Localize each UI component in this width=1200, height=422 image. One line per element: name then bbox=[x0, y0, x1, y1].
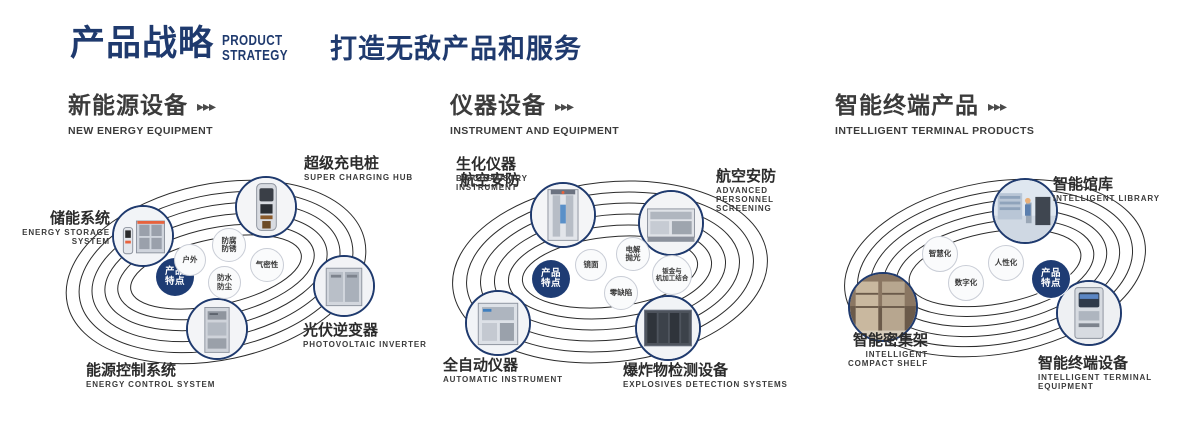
node-label-cn: 智能馆库 bbox=[1053, 176, 1160, 193]
page-subtitle: 打造无敌产品和服务 bbox=[330, 36, 582, 63]
energy-storage-cabinet-image bbox=[114, 207, 172, 265]
product-strategy-infographic: 产品战略 PRODUCT STRATEGY 打造无敌产品和服务 新能源设备▸▸▸… bbox=[0, 0, 1200, 422]
diagram-instrument: 产品 特点 镜面 电解抛光 钣金与机加工结合 零缺陷 航空安防 生化仪器 BIO… bbox=[420, 150, 820, 410]
feature-bubble-humanized[interactable]: 人性化 bbox=[988, 245, 1024, 281]
node-photo-intelligent-library[interactable] bbox=[992, 178, 1058, 244]
node-label-en: INTELLIGENT COMPACT SHELF bbox=[828, 351, 928, 369]
section-heading-cn: 新能源设备 bbox=[68, 95, 188, 118]
feature-bubble-airtightness[interactable]: 气密性 bbox=[250, 248, 284, 282]
node-photo-explosives-detection-systems[interactable] bbox=[635, 295, 701, 361]
feature-bubble-label: 气密性 bbox=[256, 261, 279, 269]
section-heading-cn: 智能终端产品 bbox=[835, 95, 979, 118]
page-title-english-line2: STRATEGY bbox=[222, 48, 288, 63]
node-label-explosives-detection-systems: 爆炸物检测设备 EXPLOSIVES DETECTION SYSTEMS bbox=[623, 362, 788, 390]
inverter-cabinet-image bbox=[315, 257, 373, 315]
node-photo-energy-storage-system[interactable] bbox=[112, 205, 174, 267]
feature-bubble-mirror-finish[interactable]: 镜面 bbox=[575, 249, 607, 281]
node-photo-energy-control-system[interactable] bbox=[186, 298, 248, 360]
hub-label-line2: 特点 bbox=[1041, 279, 1061, 289]
section-heading-intelligent-terminal: 智能终端产品▸▸▸ INTELLIGENT TERMINAL PRODUCTS bbox=[835, 95, 1034, 137]
feature-bubble-anticorrosion[interactable]: 防腐防锈 bbox=[212, 228, 246, 262]
node-label-cn: 储能系统 bbox=[0, 210, 110, 227]
node-label-cn: 能源控制系统 bbox=[86, 362, 215, 379]
feature-bubble-label: 数字化 bbox=[955, 279, 978, 287]
node-label-cn: 全自动仪器 bbox=[443, 357, 563, 374]
node-label-en: ENERGY STORAGE SYSTEM bbox=[0, 229, 110, 247]
node-label-automatic-instrument: 全自动仪器 AUTOMATIC INSTRUMENT bbox=[443, 357, 563, 385]
chevron-right-icon: ▸▸▸ bbox=[988, 98, 1006, 115]
node-label-cn: 航空安防 bbox=[716, 168, 814, 185]
section-heading-en: NEW ENERGY EQUIPMENT bbox=[68, 125, 215, 137]
feature-bubble-label: 人性化 bbox=[995, 259, 1018, 267]
node-label-biochemistry-instrument: 生化仪器 BIOCHEMISTRY INSTRUMENT bbox=[456, 156, 540, 193]
feature-bubble-label: 防腐防锈 bbox=[222, 237, 237, 254]
feature-bubble-label: 户外 bbox=[183, 256, 198, 264]
charging-pile-image bbox=[237, 178, 295, 236]
section-heading-instrument: 仪器设备▸▸▸ INSTRUMENT AND EQUIPMENT bbox=[450, 95, 619, 137]
node-label-cn: 智能终端设备 bbox=[1038, 355, 1200, 372]
page-title-english: PRODUCT STRATEGY bbox=[222, 33, 288, 63]
hub-product-features[interactable]: 产品 特点 bbox=[1032, 260, 1070, 298]
node-label-en: INTELLIGENT LIBRARY bbox=[1053, 195, 1160, 204]
node-label-cn: 爆炸物检测设备 bbox=[623, 362, 788, 379]
header: 产品战略 PRODUCT STRATEGY 打造无敌产品和服务 bbox=[0, 0, 1200, 86]
node-label-photovoltaic-inverter: 光伏逆变器 PHOTOVOLTAIC INVERTER bbox=[303, 322, 427, 350]
hub-label-line2: 特点 bbox=[541, 279, 561, 289]
hub-label-line2: 特点 bbox=[165, 277, 185, 287]
node-label-cn: 智能密集架 bbox=[810, 332, 928, 349]
feature-bubble-label: 钣金与机加工结合 bbox=[656, 268, 689, 282]
hub-product-features[interactable]: 产品 特点 bbox=[532, 260, 570, 298]
feature-bubble-outdoor[interactable]: 户外 bbox=[174, 244, 206, 276]
feature-bubble-electropolishing[interactable]: 电解抛光 bbox=[616, 237, 650, 271]
feature-bubble-label: 镜面 bbox=[584, 261, 599, 269]
page-title: 产品战略 bbox=[70, 27, 214, 62]
feature-bubble-sheetmetal-machining[interactable]: 钣金与机加工结合 bbox=[652, 255, 692, 295]
node-label-en: PHOTOVOLTAIC INVERTER bbox=[303, 341, 427, 350]
node-label-intelligent-library: 智能馆库 INTELLIGENT LIBRARY bbox=[1053, 176, 1160, 204]
node-label-cn: 生化仪器 bbox=[456, 156, 540, 173]
library-interior-image bbox=[994, 180, 1056, 242]
node-label-intelligent-compact-shelf: 智能密集架 INTELLIGENT COMPACT SHELF bbox=[810, 332, 928, 369]
node-label-en: BIOCHEMISTRY INSTRUMENT bbox=[456, 175, 540, 193]
feature-bubble-waterproof[interactable]: 防水防尘 bbox=[208, 266, 241, 299]
page-title-english-line1: PRODUCT bbox=[222, 33, 288, 48]
feature-bubble-label: 防水防尘 bbox=[217, 274, 232, 291]
chevron-right-icon: ▸▸▸ bbox=[197, 98, 215, 115]
automatic-analyzer-image bbox=[467, 292, 529, 354]
node-label-en: EXPLOSIVES DETECTION SYSTEMS bbox=[623, 381, 788, 390]
screening-machine-image bbox=[640, 192, 702, 254]
diagram-intelligent-terminal: 产品 特点 智慧化 数字化 人性化 智能馆库 INTELLIGENT LIBRA… bbox=[810, 150, 1200, 410]
node-label-energy-storage-system: 储能系统 ENERGY STORAGE SYSTEM bbox=[0, 210, 110, 247]
feature-bubble-label: 零缺陷 bbox=[610, 289, 633, 297]
node-label-en: ENERGY CONTROL SYSTEM bbox=[86, 381, 215, 390]
node-photo-super-charging-hub[interactable] bbox=[235, 176, 297, 238]
feature-bubble-label: 智慧化 bbox=[929, 250, 952, 258]
node-photo-automatic-instrument[interactable] bbox=[465, 290, 531, 356]
chevron-right-icon: ▸▸▸ bbox=[555, 98, 573, 115]
feature-bubble-digital[interactable]: 数字化 bbox=[948, 265, 984, 301]
node-photo-photovoltaic-inverter[interactable] bbox=[313, 255, 375, 317]
node-label-cn: 光伏逆变器 bbox=[303, 322, 427, 339]
control-cabinet-image bbox=[188, 300, 246, 358]
node-label-energy-control-system: 能源控制系统 ENERGY CONTROL SYSTEM bbox=[86, 362, 215, 390]
section-heading-new-energy: 新能源设备▸▸▸ NEW ENERGY EQUIPMENT bbox=[68, 95, 215, 137]
feature-bubble-zero-defect[interactable]: 零缺陷 bbox=[604, 276, 638, 310]
self-service-kiosk-image bbox=[1058, 282, 1120, 344]
section-heading-en: INSTRUMENT AND EQUIPMENT bbox=[450, 125, 619, 137]
feature-bubble-label: 电解抛光 bbox=[626, 246, 641, 263]
security-scanner-image bbox=[532, 184, 594, 246]
node-label-advanced-personnel-screening: 航空安防 ADVANCED PERSONNEL SCREENING bbox=[716, 168, 814, 214]
section-heading-cn: 仪器设备 bbox=[450, 95, 546, 118]
diagram-new-energy: 产品 特点 户外 防腐防锈 防水防尘 气密性 储能系统 ENERGY STORA… bbox=[30, 150, 430, 410]
node-label-en: AUTOMATIC INSTRUMENT bbox=[443, 376, 563, 385]
section-heading-en: INTELLIGENT TERMINAL PRODUCTS bbox=[835, 125, 1034, 137]
detection-cabinet-image bbox=[637, 297, 699, 359]
node-label-intelligent-terminal-equipment: 智能终端设备 INTELLIGENT TERMINAL EQUIPMENT bbox=[1038, 355, 1200, 392]
feature-bubble-intelligent[interactable]: 智慧化 bbox=[922, 236, 958, 272]
node-label-en: INTELLIGENT TERMINAL EQUIPMENT bbox=[1038, 374, 1200, 392]
node-label-en: ADVANCED PERSONNEL SCREENING bbox=[716, 187, 814, 214]
node-label-cn: 超级充电桩 bbox=[304, 155, 413, 172]
